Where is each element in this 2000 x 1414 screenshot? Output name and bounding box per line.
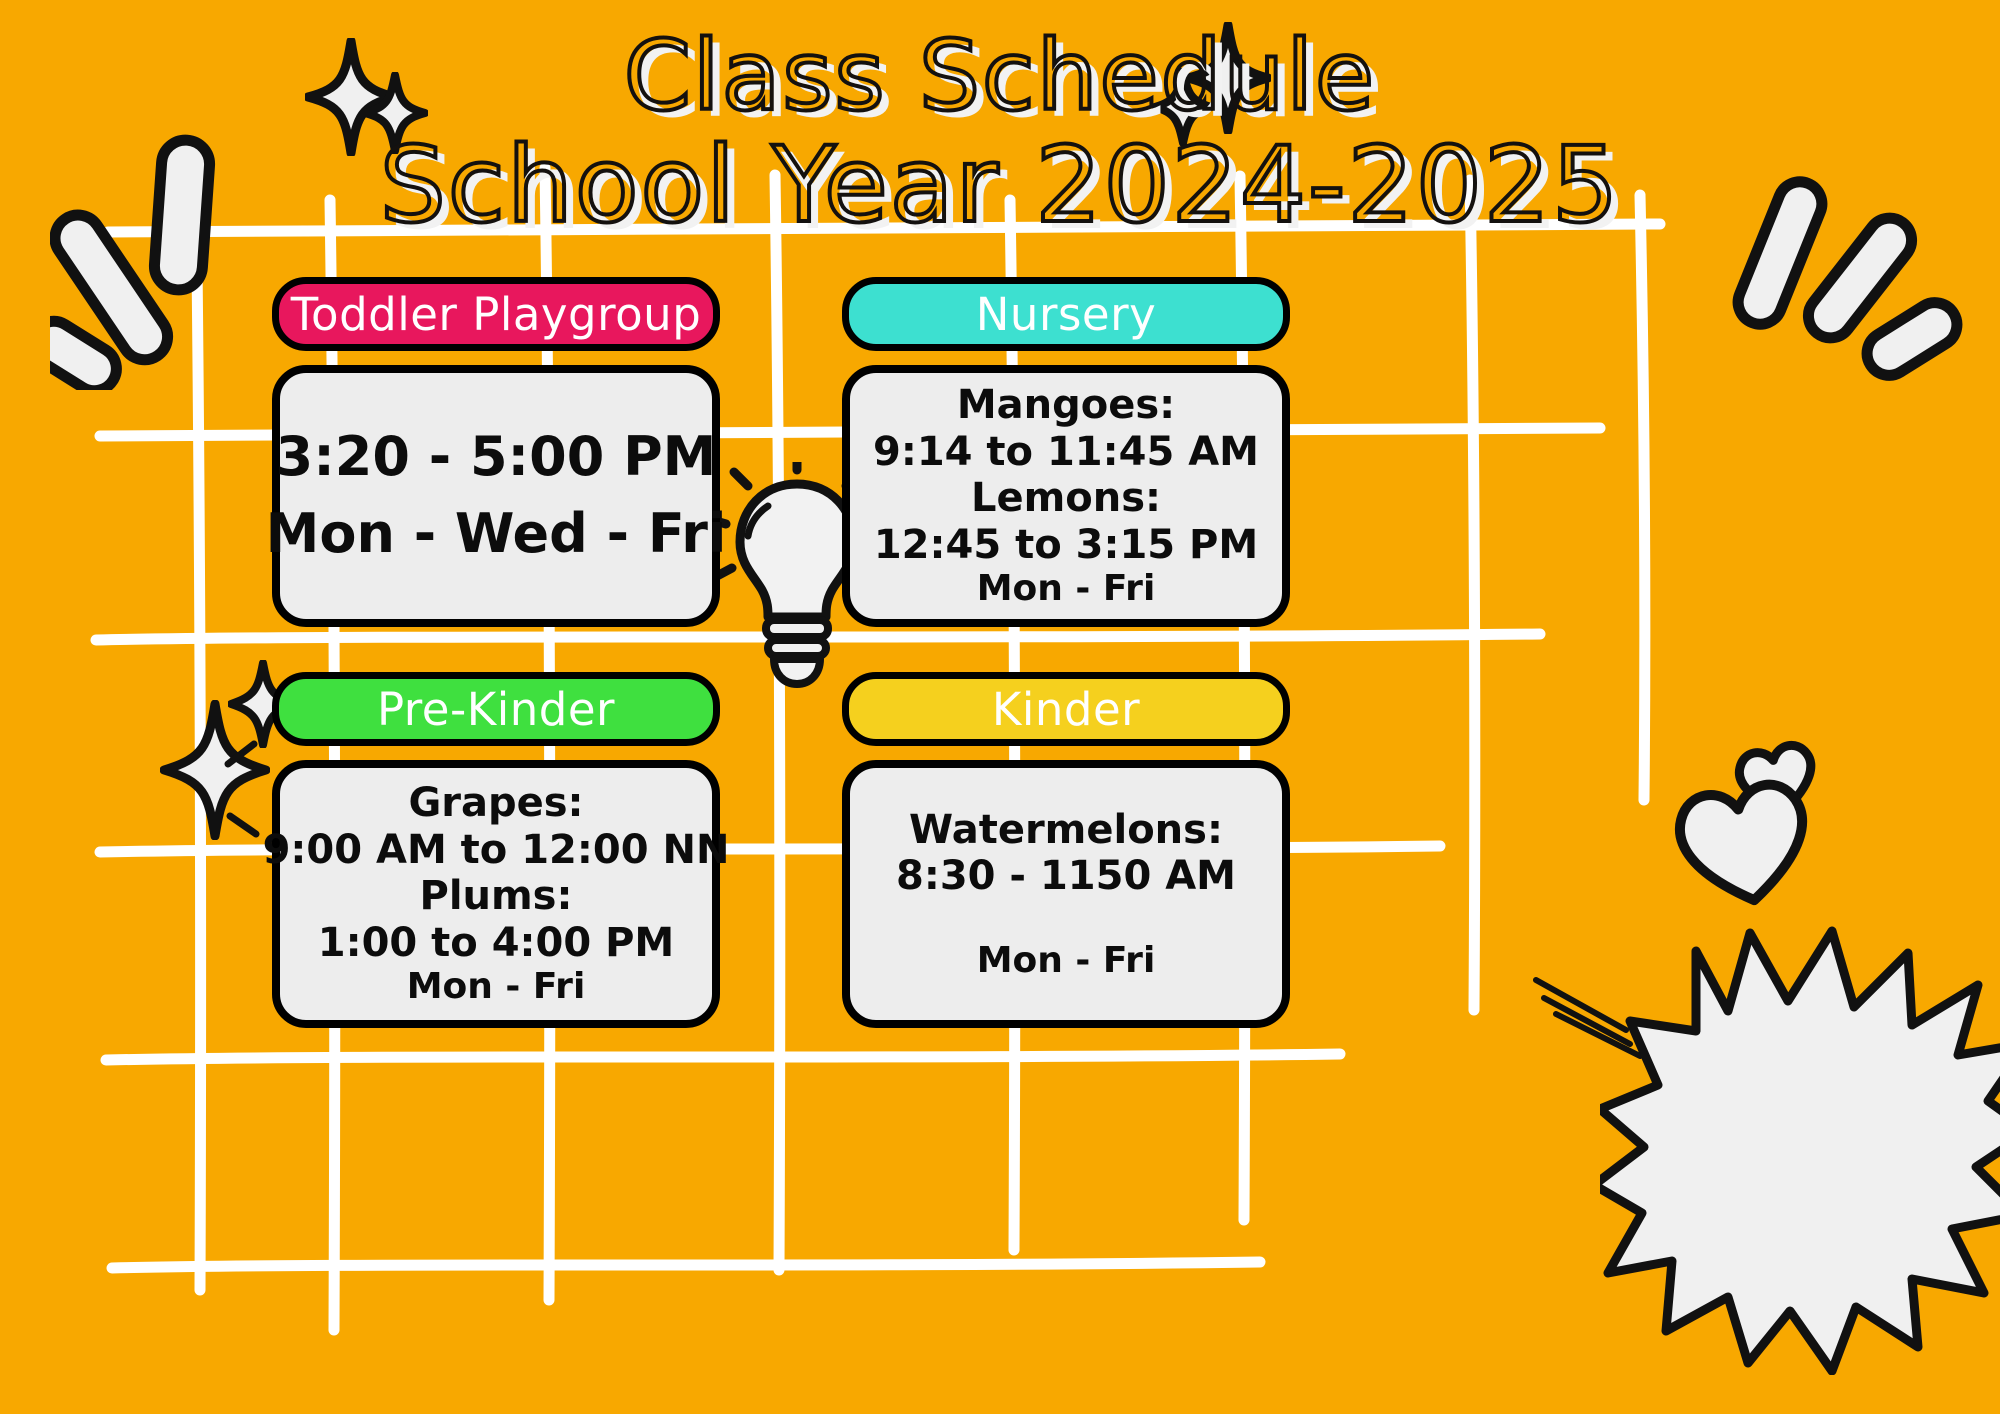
card-body-kinder: Watermelons: 8:30 - 1150 AM Mon - Fri	[842, 760, 1290, 1028]
schedule-line: Grapes:	[408, 780, 583, 826]
schedule-line: Watermelons:	[909, 807, 1223, 853]
schedule-line: 9:14 to 11:45 AM	[873, 429, 1259, 475]
title-line-2: School Year 2024-2025	[0, 132, 2000, 238]
card-body-toddler: 3:20 - 5:00 PM Mon - Wed - Fri	[272, 365, 720, 627]
schedule-line: 3:20 - 5:00 PM	[276, 426, 717, 489]
card-header-prekinder: Pre-Kinder	[272, 672, 720, 746]
schedule-line: Mon - Fri	[407, 966, 586, 1008]
schedule-card-prekinder: Pre-Kinder Grapes: 9:00 AM to 12:00 NN P…	[272, 672, 720, 1028]
schedule-card-kinder: Kinder Watermelons: 8:30 - 1150 AM Mon -…	[842, 672, 1290, 1028]
schedule-line: Mangoes:	[957, 382, 1175, 428]
schedule-line: 9:00 AM to 12:00 NN	[263, 827, 730, 873]
card-title-kinder: Kinder	[992, 683, 1140, 736]
schedule-card-toddler: Toddler Playgroup 3:20 - 5:00 PM Mon - W…	[272, 277, 720, 627]
poster-title: Class Schedule School Year 2024-2025	[0, 28, 2000, 238]
card-body-prekinder: Grapes: 9:00 AM to 12:00 NN Plums: 1:00 …	[272, 760, 720, 1028]
card-header-toddler: Toddler Playgroup	[272, 277, 720, 351]
schedule-line: Mon - Fri	[977, 568, 1156, 610]
schedule-line: Plums:	[420, 873, 573, 919]
schedule-line: 12:45 to 3:15 PM	[874, 522, 1258, 568]
schedule-line: 8:30 - 1150 AM	[896, 853, 1236, 899]
card-title-nursery: Nursery	[976, 288, 1156, 341]
card-title-toddler: Toddler Playgroup	[291, 288, 702, 341]
card-header-kinder: Kinder	[842, 672, 1290, 746]
schedule-line: Lemons:	[971, 475, 1161, 521]
schedule-line: Mon - Fri	[977, 940, 1156, 982]
poster-canvas: Class Schedule School Year 2024-2025 Tod…	[0, 0, 2000, 1414]
card-title-prekinder: Pre-Kinder	[377, 683, 615, 736]
card-header-nursery: Nursery	[842, 277, 1290, 351]
schedule-line: 1:00 to 4:00 PM	[318, 920, 674, 966]
card-body-nursery: Mangoes: 9:14 to 11:45 AM Lemons: 12:45 …	[842, 365, 1290, 627]
title-line-1: Class Schedule	[0, 28, 2000, 126]
schedule-card-nursery: Nursery Mangoes: 9:14 to 11:45 AM Lemons…	[842, 277, 1290, 627]
schedule-line: Mon - Wed - Fri	[266, 503, 727, 566]
